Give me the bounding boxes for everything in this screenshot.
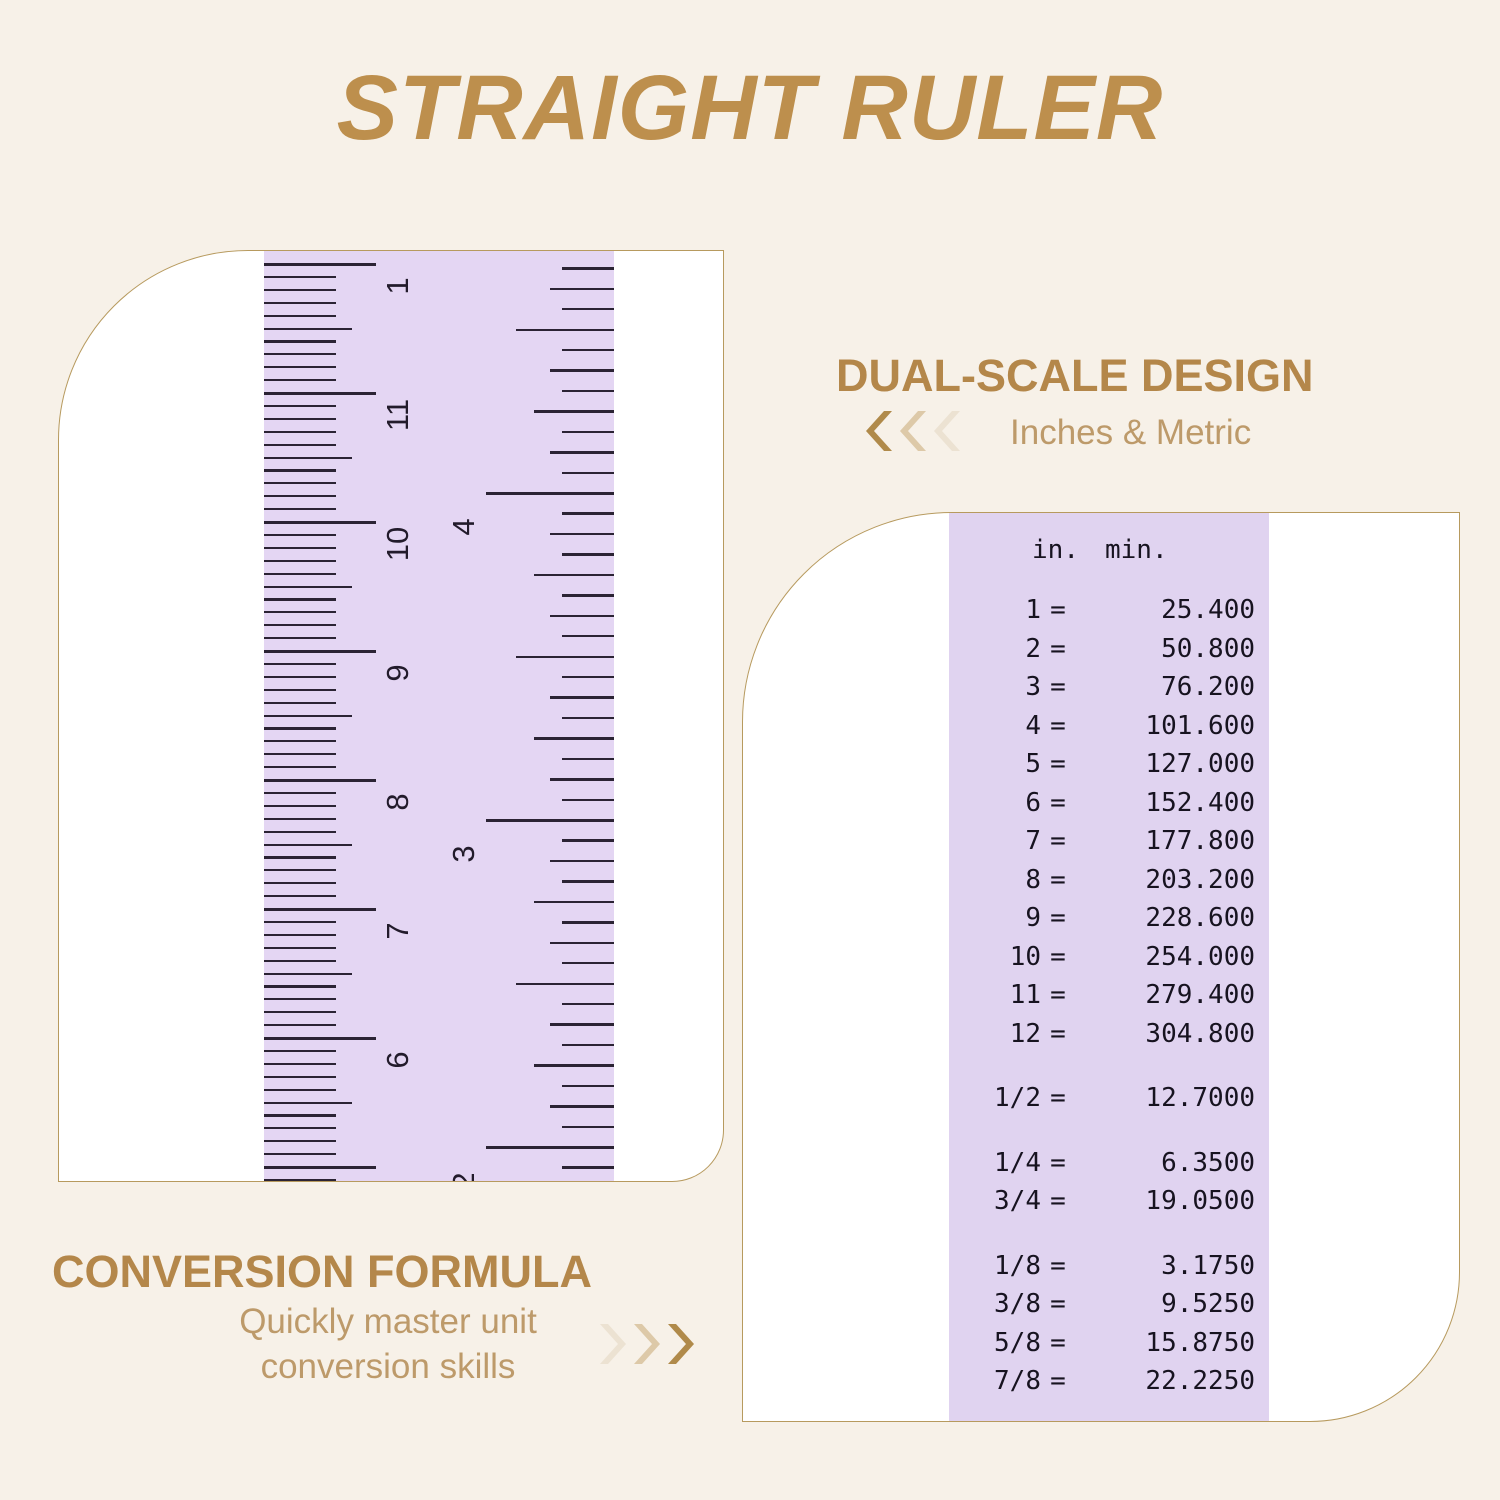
ruler-tick-metric xyxy=(264,663,336,665)
cell-millimeters: 177.800 xyxy=(1075,826,1269,856)
poster-canvas: STRAIGHT RULER 1111098765432 in. min. 1=… xyxy=(0,0,1500,1500)
cell-millimeters: 254.000 xyxy=(1075,942,1269,972)
ruler-tick-imperial xyxy=(550,288,614,290)
ruler-tick-imperial xyxy=(562,758,614,760)
cell-equals: = xyxy=(1041,634,1075,664)
cell-inches: 4 xyxy=(949,711,1041,741)
chevron-left-icon xyxy=(866,409,896,453)
ruler-tick-metric xyxy=(264,405,336,407)
cell-equals: = xyxy=(1041,1328,1075,1358)
cell-equals: = xyxy=(1041,1019,1075,1049)
cell-millimeters: 6.3500 xyxy=(1075,1148,1269,1178)
ruler-tick-metric xyxy=(264,727,336,729)
ruler-tick-metric xyxy=(264,947,336,949)
chevron-left-group xyxy=(866,409,964,453)
cell-millimeters: 25.400 xyxy=(1075,595,1269,625)
ruler-tick-imperial xyxy=(562,1044,614,1046)
ruler-tick-imperial xyxy=(562,349,614,351)
ruler-tick-metric xyxy=(264,1037,376,1040)
conversion-formula-subtitle: Quickly master unit conversion skills xyxy=(208,1300,568,1390)
ruler-tick-metric xyxy=(264,353,336,355)
table-row: 10=254.000 xyxy=(949,942,1269,981)
table-header-row: in. min. xyxy=(949,535,1269,595)
ruler-tick-metric xyxy=(264,637,336,639)
table-row: 1/4=6.3500 xyxy=(949,1148,1269,1187)
ruler-tick-imperial xyxy=(562,676,614,678)
table-row: 6=152.400 xyxy=(949,788,1269,827)
ruler-strip: 1111098765432 xyxy=(264,251,614,1182)
ruler-tick-imperial xyxy=(562,635,614,637)
cell-equals: = xyxy=(1041,903,1075,933)
ruler-tick-metric xyxy=(264,1102,352,1104)
ruler-tick-metric xyxy=(264,856,336,858)
cell-inches: 6 xyxy=(949,788,1041,818)
ruler-tick-imperial xyxy=(534,1064,614,1066)
ruler-tick-metric xyxy=(264,366,336,368)
ruler-tick-metric xyxy=(264,753,336,755)
conversion-subtitle-line-2: conversion skills xyxy=(208,1345,568,1390)
cell-inches: 2 xyxy=(949,634,1041,664)
ruler-tick-metric xyxy=(264,1024,336,1026)
cell-inches: 3/4 xyxy=(949,1186,1041,1216)
ruler-tick-metric xyxy=(264,1011,336,1013)
ruler-tick-metric xyxy=(264,895,336,897)
ruler-tick-imperial xyxy=(550,1023,614,1025)
cell-equals: = xyxy=(1041,1289,1075,1319)
ruler-label-metric: 11 xyxy=(380,387,416,443)
cell-inches: 10 xyxy=(949,942,1041,972)
ruler-tick-metric xyxy=(264,689,336,691)
ruler-label-metric: 10 xyxy=(380,516,416,572)
chevron-right-group xyxy=(596,1322,694,1366)
cell-equals: = xyxy=(1041,1251,1075,1281)
ruler-tick-metric xyxy=(264,998,336,1000)
header-millimeters: min. xyxy=(1079,535,1269,565)
ruler-tick-metric xyxy=(264,1076,336,1078)
cell-millimeters: 127.000 xyxy=(1075,749,1269,779)
cell-millimeters: 279.400 xyxy=(1075,980,1269,1010)
ruler-tick-metric xyxy=(264,831,336,833)
ruler-tick-metric xyxy=(264,521,376,524)
table-row: 5=127.000 xyxy=(949,749,1269,788)
ruler-tick-imperial xyxy=(534,574,614,576)
ruler-tick-metric xyxy=(264,482,336,484)
cell-inches: 12 xyxy=(949,1019,1041,1049)
table-row: 7=177.800 xyxy=(949,826,1269,865)
cell-inches: 7 xyxy=(949,826,1041,856)
conversion-table-strip: in. min. 1=25.4002=50.8003=76.2004=101.6… xyxy=(949,513,1269,1422)
ruler-tick-metric xyxy=(264,263,376,266)
cell-inches: 1/2 xyxy=(949,1083,1041,1113)
ruler-tick-metric xyxy=(264,1114,336,1116)
ruler-tick-metric xyxy=(264,418,336,420)
ruler-label-imperial: 4 xyxy=(446,499,482,555)
table-row: 4=101.600 xyxy=(949,711,1269,750)
cell-inches: 11 xyxy=(949,980,1041,1010)
ruler-tick-imperial xyxy=(562,1126,614,1128)
ruler-tick-metric xyxy=(264,598,336,600)
cell-equals: = xyxy=(1041,1366,1075,1396)
table-row: 3/4=19.0500 xyxy=(949,1186,1269,1225)
ruler-tick-metric xyxy=(264,624,336,626)
ruler-tick-metric xyxy=(264,302,336,304)
ruler-tick-metric xyxy=(264,469,336,471)
ruler-tick-metric xyxy=(264,779,376,782)
table-row: 9=228.600 xyxy=(949,903,1269,942)
ruler-tick-metric xyxy=(264,611,336,613)
ruler-label-metric: 1 xyxy=(380,258,416,314)
cell-inches: 1/4 xyxy=(949,1148,1041,1178)
ruler-tick-imperial xyxy=(562,1085,614,1087)
ruler-tick-metric xyxy=(264,1140,336,1142)
cell-inches: 1/8 xyxy=(949,1251,1041,1281)
ruler-tick-metric xyxy=(264,715,352,717)
ruler-tick-metric xyxy=(264,1127,336,1129)
dual-scale-subtitle: Inches & Metric xyxy=(1010,411,1251,456)
ruler-tick-imperial xyxy=(562,839,614,841)
ruler-tick-imperial xyxy=(534,737,614,739)
cell-millimeters: 304.800 xyxy=(1075,1019,1269,1049)
ruler-tick-metric xyxy=(264,547,336,549)
ruler-tick-imperial xyxy=(534,901,614,903)
cell-millimeters: 228.600 xyxy=(1075,903,1269,933)
cell-millimeters: 15.8750 xyxy=(1075,1328,1269,1358)
ruler-tick-metric xyxy=(264,1179,336,1181)
ruler-tick-metric xyxy=(264,921,336,923)
cell-equals: = xyxy=(1041,826,1075,856)
cell-equals: = xyxy=(1041,749,1075,779)
ruler-tick-imperial xyxy=(550,615,614,617)
ruler-tick-metric xyxy=(264,457,352,459)
cell-millimeters: 3.1750 xyxy=(1075,1251,1269,1281)
ruler-tick-metric xyxy=(264,650,376,653)
ruler-tick-metric xyxy=(264,392,376,395)
ruler-tick-imperial xyxy=(534,410,614,412)
ruler-tick-metric xyxy=(264,844,352,846)
cell-equals: = xyxy=(1041,865,1075,895)
ruler-tick-metric xyxy=(264,818,336,820)
ruler-tick-imperial xyxy=(486,819,614,822)
cell-inches: 7/8 xyxy=(949,1366,1041,1396)
cell-millimeters: 9.5250 xyxy=(1075,1289,1269,1319)
ruler-tick-metric xyxy=(264,702,336,704)
ruler-tick-imperial xyxy=(562,431,614,433)
ruler-tick-metric xyxy=(264,495,336,497)
conversion-formula-heading: CONVERSION FORMULA xyxy=(52,1246,592,1298)
ruler-photo-card: 1111098765432 xyxy=(58,250,724,1182)
ruler-tick-metric xyxy=(264,340,336,342)
cell-millimeters: 101.600 xyxy=(1075,711,1269,741)
ruler-tick-metric xyxy=(264,1166,376,1169)
cell-millimeters: 152.400 xyxy=(1075,788,1269,818)
ruler-tick-metric xyxy=(264,289,336,291)
ruler-tick-imperial xyxy=(562,717,614,719)
ruler-tick-metric xyxy=(264,1089,336,1091)
chevron-left-icon xyxy=(900,409,930,453)
cell-equals: = xyxy=(1041,672,1075,702)
ruler-tick-metric xyxy=(264,573,336,575)
cell-millimeters: 50.800 xyxy=(1075,634,1269,664)
conversion-subtitle-line-1: Quickly master unit xyxy=(208,1300,568,1345)
conversion-table-card: in. min. 1=25.4002=50.8003=76.2004=101.6… xyxy=(742,512,1460,1422)
chevron-right-icon xyxy=(664,1322,694,1366)
cell-inches: 5/8 xyxy=(949,1328,1041,1358)
ruler-tick-imperial xyxy=(550,533,614,535)
ruler-tick-imperial xyxy=(562,472,614,474)
conversion-table: in. min. 1=25.4002=50.8003=76.2004=101.6… xyxy=(949,535,1269,1405)
cell-equals: = xyxy=(1041,711,1075,741)
ruler-label-metric: 8 xyxy=(380,774,416,830)
ruler-tick-metric xyxy=(264,908,376,911)
cell-millimeters: 76.200 xyxy=(1075,672,1269,702)
ruler-tick-imperial xyxy=(516,983,614,985)
ruler-tick-imperial xyxy=(550,369,614,371)
ruler-tick-imperial xyxy=(550,942,614,944)
ruler-label-metric: 9 xyxy=(380,645,416,701)
ruler-tick-metric xyxy=(264,276,336,278)
ruler-tick-metric xyxy=(264,1153,336,1155)
cell-inches: 5 xyxy=(949,749,1041,779)
ruler-tick-metric xyxy=(264,805,336,807)
ruler-tick-imperial xyxy=(562,799,614,801)
ruler-tick-metric xyxy=(264,379,336,381)
ruler-tick-metric xyxy=(264,1050,336,1052)
cell-inches: 9 xyxy=(949,903,1041,933)
cell-inches: 1 xyxy=(949,595,1041,625)
chevron-right-icon xyxy=(630,1322,660,1366)
ruler-tick-imperial xyxy=(550,860,614,862)
ruler-tick-metric xyxy=(264,740,336,742)
table-group-gap xyxy=(949,1057,1269,1083)
page-title: STRAIGHT RULER xyxy=(0,56,1500,161)
ruler-label-metric: 6 xyxy=(380,1032,416,1088)
ruler-tick-metric xyxy=(264,869,336,871)
ruler-tick-metric xyxy=(264,1063,336,1065)
ruler-tick-metric xyxy=(264,766,336,768)
ruler-tick-imperial xyxy=(562,512,614,514)
header-inches: in. xyxy=(949,535,1079,565)
cell-inches: 3/8 xyxy=(949,1289,1041,1319)
ruler-label-imperial: 3 xyxy=(446,826,482,882)
table-row: 1=25.400 xyxy=(949,595,1269,634)
table-group-gap xyxy=(949,1225,1269,1251)
ruler-tick-imperial xyxy=(550,778,614,780)
ruler-tick-imperial xyxy=(562,594,614,596)
ruler-tick-imperial xyxy=(562,921,614,923)
ruler-label-metric: 5 xyxy=(380,1161,416,1182)
cell-millimeters: 203.200 xyxy=(1075,865,1269,895)
ruler-tick-imperial xyxy=(562,308,614,310)
ruler-tick-imperial xyxy=(562,267,614,269)
ruler-tick-metric xyxy=(264,934,336,936)
ruler-tick-metric xyxy=(264,960,336,962)
cell-millimeters: 19.0500 xyxy=(1075,1186,1269,1216)
cell-inches: 8 xyxy=(949,865,1041,895)
cell-inches: 3 xyxy=(949,672,1041,702)
cell-equals: = xyxy=(1041,788,1075,818)
ruler-tick-imperial xyxy=(562,390,614,392)
dual-scale-heading: DUAL-SCALE DESIGN xyxy=(836,350,1314,402)
cell-equals: = xyxy=(1041,942,1075,972)
table-row: 12=304.800 xyxy=(949,1019,1269,1058)
cell-equals: = xyxy=(1041,1083,1075,1113)
ruler-tick-metric xyxy=(264,973,352,975)
ruler-tick-metric xyxy=(264,676,336,678)
cell-equals: = xyxy=(1041,980,1075,1010)
ruler-tick-metric xyxy=(264,792,336,794)
ruler-tick-metric xyxy=(264,431,336,433)
cell-equals: = xyxy=(1041,1186,1075,1216)
table-row: 3=76.200 xyxy=(949,672,1269,711)
table-row: 7/8=22.2250 xyxy=(949,1366,1269,1405)
table-row: 5/8=15.8750 xyxy=(949,1328,1269,1367)
ruler-tick-metric xyxy=(264,315,336,317)
cell-millimeters: 12.7000 xyxy=(1075,1083,1269,1113)
ruler-tick-imperial xyxy=(562,880,614,882)
ruler-tick-metric xyxy=(264,508,336,510)
chevron-left-icon xyxy=(934,409,964,453)
cell-equals: = xyxy=(1041,1148,1075,1178)
table-group-gap xyxy=(949,1122,1269,1148)
ruler-tick-imperial xyxy=(562,962,614,964)
ruler-tick-metric xyxy=(264,882,336,884)
ruler-tick-imperial xyxy=(516,329,614,331)
ruler-tick-metric xyxy=(264,985,336,987)
ruler-tick-imperial xyxy=(486,1146,614,1149)
ruler-tick-imperial xyxy=(562,553,614,555)
ruler-tick-metric xyxy=(264,586,352,588)
ruler-tick-imperial xyxy=(562,1003,614,1005)
table-row: 2=50.800 xyxy=(949,634,1269,673)
cell-equals: = xyxy=(1041,595,1075,625)
ruler-tick-imperial xyxy=(562,1166,614,1168)
ruler-tick-metric xyxy=(264,328,352,330)
ruler-tick-metric xyxy=(264,534,336,536)
ruler-label-imperial: 2 xyxy=(446,1153,482,1182)
ruler-tick-imperial xyxy=(550,1105,614,1107)
ruler-tick-metric xyxy=(264,444,336,446)
table-row: 1/8=3.1750 xyxy=(949,1251,1269,1290)
table-row: 1/2=12.7000 xyxy=(949,1083,1269,1122)
table-row: 3/8=9.5250 xyxy=(949,1289,1269,1328)
chevron-right-icon xyxy=(596,1322,626,1366)
ruler-tick-imperial xyxy=(516,656,614,658)
ruler-tick-metric xyxy=(264,560,336,562)
ruler-tick-imperial xyxy=(550,696,614,698)
ruler-tick-imperial xyxy=(550,451,614,453)
table-row: 11=279.400 xyxy=(949,980,1269,1019)
cell-millimeters: 22.2250 xyxy=(1075,1366,1269,1396)
ruler-label-metric: 7 xyxy=(380,903,416,959)
ruler-tick-imperial xyxy=(486,492,614,495)
table-row: 8=203.200 xyxy=(949,865,1269,904)
